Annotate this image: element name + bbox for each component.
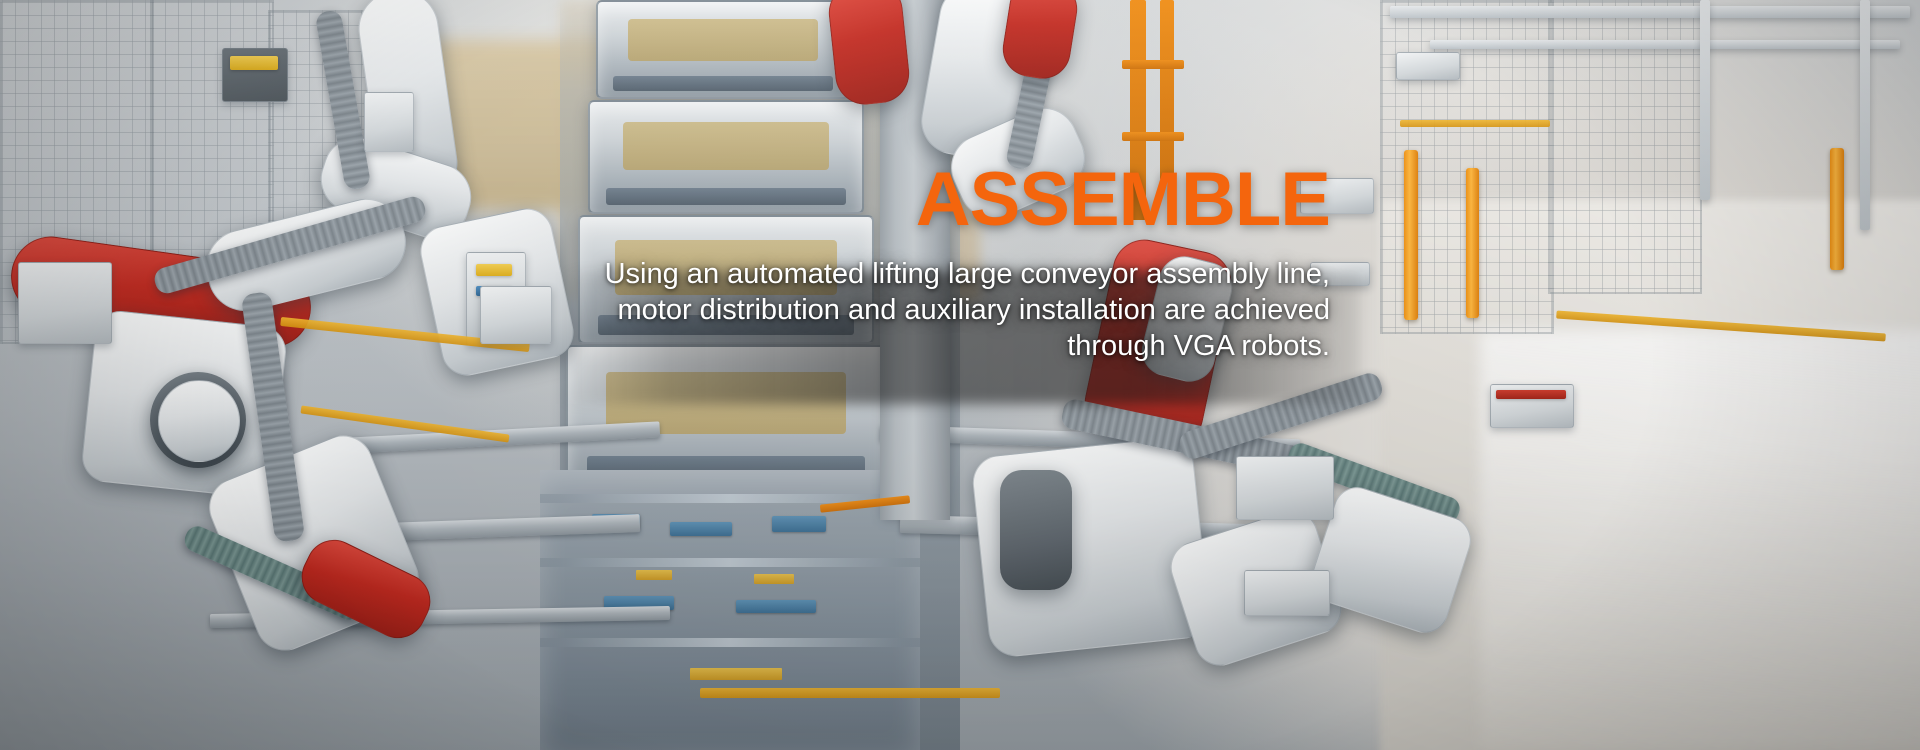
hero-description-line: motor distribution and auxiliary install…	[400, 292, 1330, 328]
hero-text-overlay: ASSEMBLE Using an automated lifting larg…	[0, 0, 1920, 750]
hero-description-line: through VGA robots.	[400, 328, 1330, 364]
hero-banner: ASSEMBLE Using an automated lifting larg…	[0, 0, 1920, 750]
hero-description: Using an automated lifting large conveyo…	[400, 256, 1330, 364]
hero-title: ASSEMBLE	[400, 160, 1330, 240]
hero-text-block: ASSEMBLE Using an automated lifting larg…	[400, 160, 1330, 364]
hero-description-line: Using an automated lifting large conveyo…	[400, 256, 1330, 292]
